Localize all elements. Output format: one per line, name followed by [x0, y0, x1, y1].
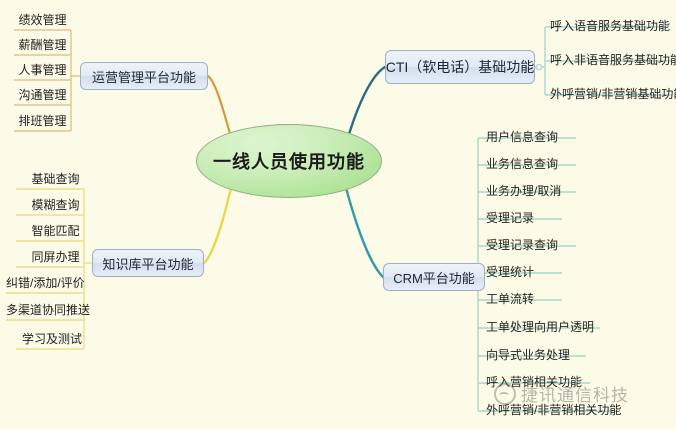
branch-node-cti[interactable]: CTI（软电话）基础功能: [385, 50, 535, 84]
branch-node-ops-label: 运营管理平台功能: [86, 67, 202, 86]
leaf-item[interactable]: 向导式业务处理: [486, 347, 570, 364]
leaf-item[interactable]: 薪酬管理: [14, 37, 71, 54]
branch-node-cti-label: CTI（软电话）基础功能: [380, 57, 541, 77]
branch-node-kb[interactable]: 知识库平台功能: [92, 249, 204, 277]
leaf-item[interactable]: 外呼营销/非营销相关功能: [486, 402, 621, 419]
branch-node-crm-label: CRM平台功能: [387, 268, 481, 287]
leaf-item[interactable]: 受理记录查询: [486, 237, 558, 254]
leaf-item[interactable]: 沟通管理: [14, 87, 71, 104]
leaf-item[interactable]: 外呼营销/非营销基础功能: [550, 86, 676, 103]
leaf-item[interactable]: 呼入非语音服务基础功能: [550, 52, 676, 69]
leaf-item[interactable]: 呼入营销相关功能: [486, 374, 582, 391]
branch-node-kb-label: 知识库平台功能: [96, 254, 199, 273]
leaf-item[interactable]: 模糊查询: [27, 197, 84, 214]
central-topic-label: 一线人员使用功能: [213, 148, 365, 174]
leaf-item[interactable]: 纠错/添加/评价: [6, 275, 84, 292]
leaf-item[interactable]: 业务信息查询: [486, 156, 558, 173]
branch-node-ops[interactable]: 运营管理平台功能: [80, 62, 208, 90]
leaf-item[interactable]: 人事管理: [14, 62, 71, 79]
leaf-item[interactable]: 工单流转: [486, 291, 534, 308]
branch-node-crm[interactable]: CRM平台功能: [383, 263, 485, 291]
leaf-item[interactable]: 排班管理: [14, 113, 71, 130]
leaf-item[interactable]: 工单处理向用户透明: [486, 319, 594, 336]
central-topic[interactable]: 一线人员使用功能: [196, 124, 382, 198]
leaf-item[interactable]: 呼入语音服务基础功能: [550, 18, 670, 35]
leaf-item[interactable]: 受理记录: [486, 210, 534, 227]
mindmap-canvas: 一线人员使用功能 运营管理平台功能 知识库平台功能 CTI（软电话）基础功能 C…: [0, 0, 676, 429]
leaf-item[interactable]: 智能匹配: [27, 223, 84, 240]
leaf-item[interactable]: 业务办理/取消: [486, 183, 561, 200]
leaf-item[interactable]: 受理统计: [486, 264, 534, 281]
leaf-item[interactable]: 多渠道协同推送: [6, 302, 84, 319]
connector-center-to-ops: [208, 76, 232, 141]
leaf-item[interactable]: 学习及测试: [20, 331, 84, 348]
connector-center-to-kb: [204, 184, 232, 263]
leaf-item[interactable]: 用户信息查询: [486, 129, 558, 146]
connector-center-to-cti: [347, 67, 385, 141]
leaf-item[interactable]: 绩效管理: [14, 12, 71, 29]
connector-center-to-crm: [345, 184, 383, 277]
leaf-item[interactable]: 同屏办理: [27, 249, 84, 266]
leaf-item[interactable]: 基础查询: [27, 171, 84, 188]
